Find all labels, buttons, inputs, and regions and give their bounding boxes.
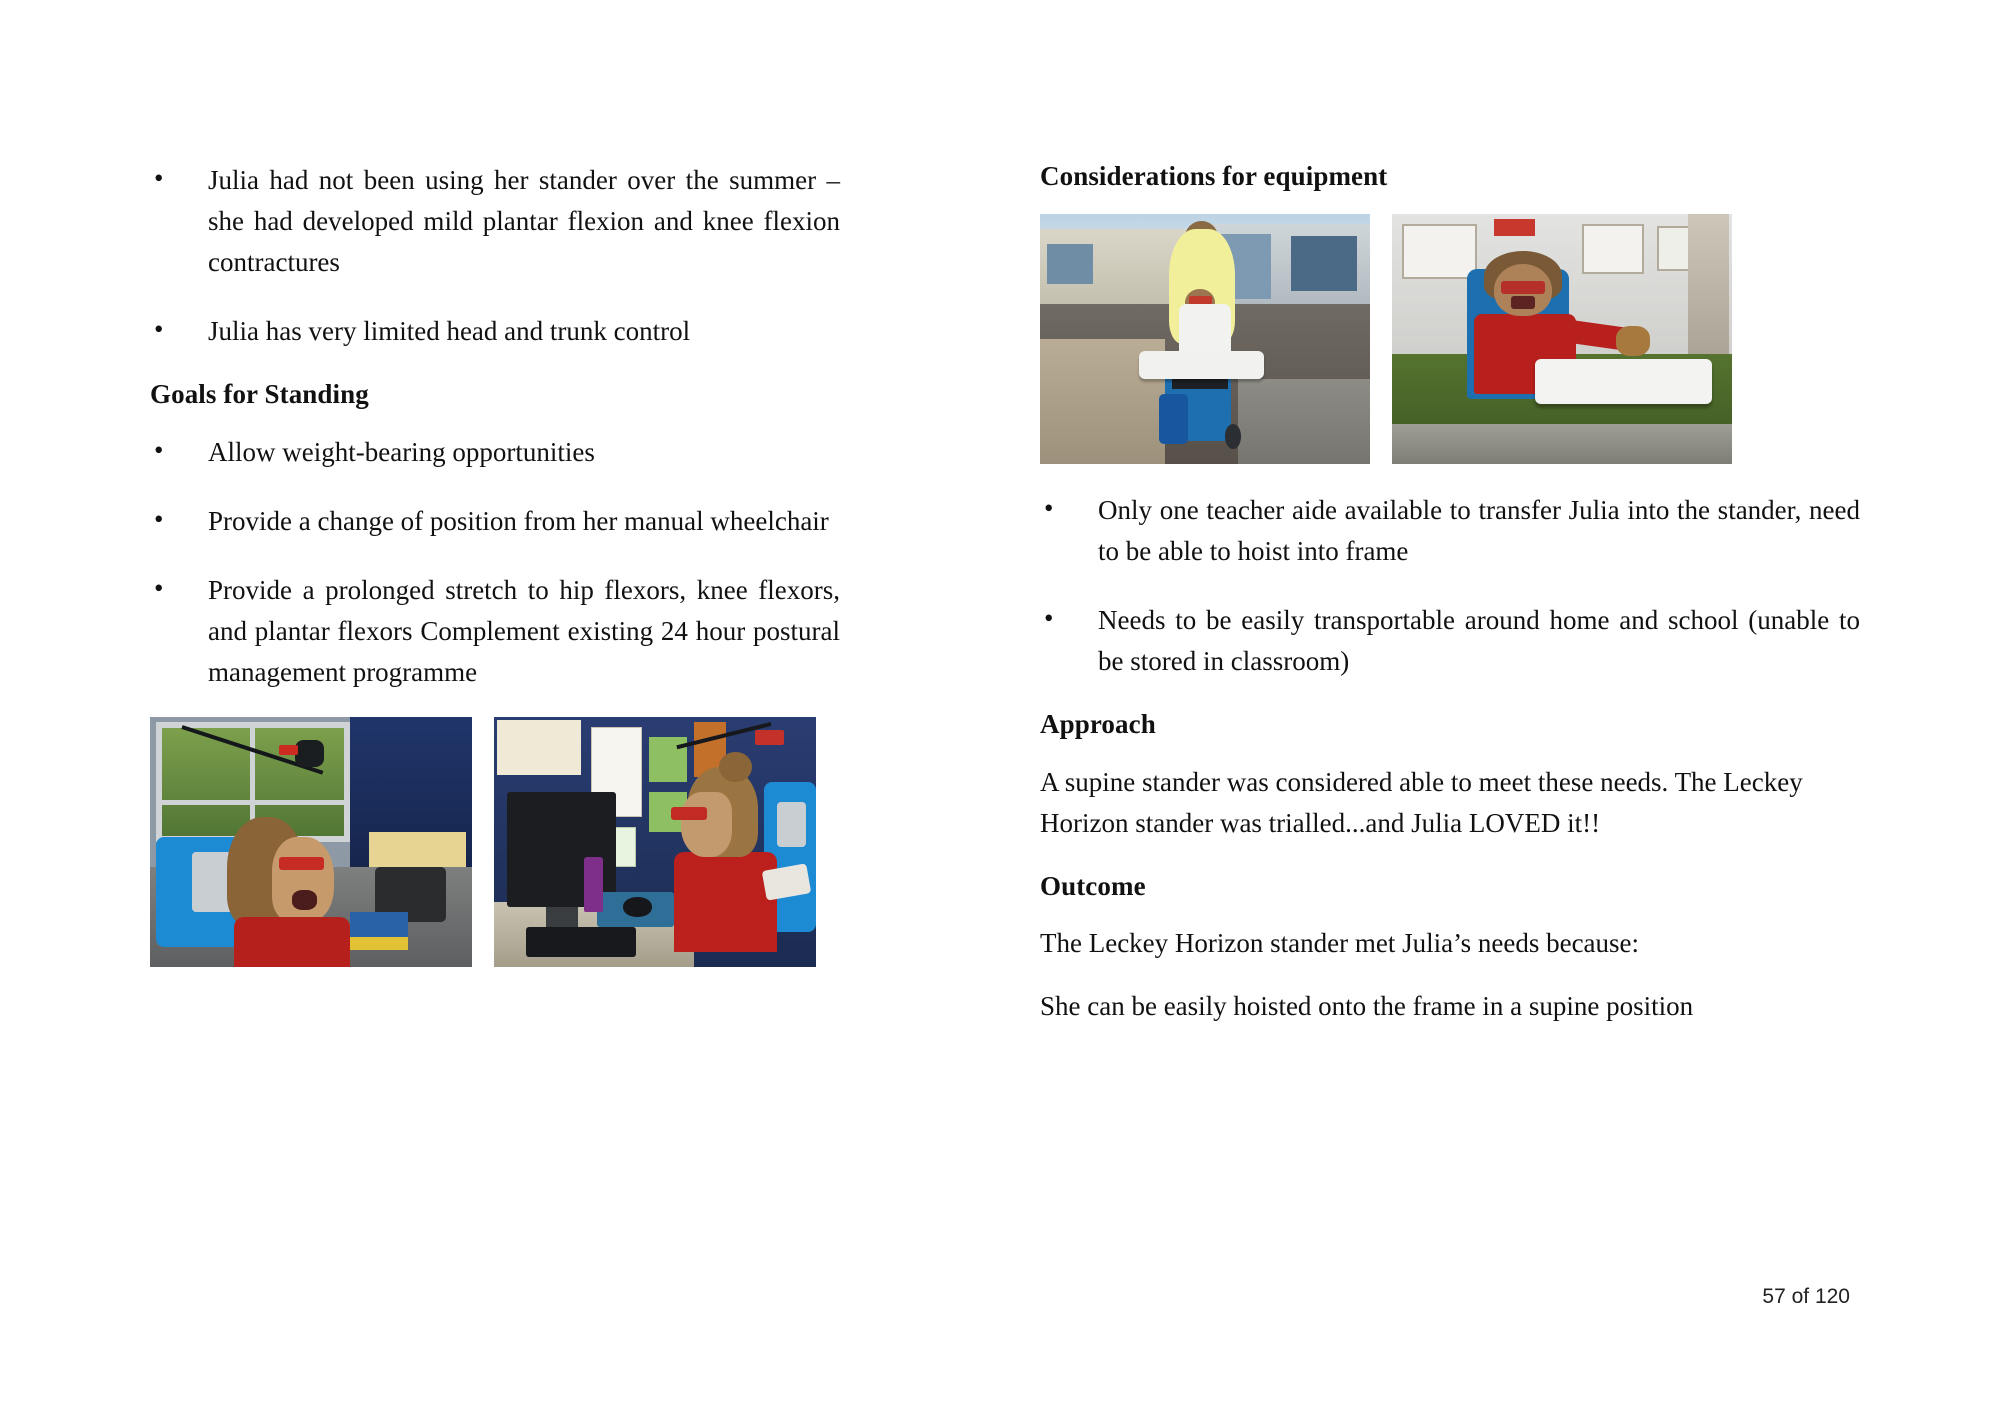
document-page: Julia had not been using her stander ove… [0,0,2000,1414]
approach-paragraph: A supine stander was considered able to … [1040,762,1860,844]
list-item: Provide a prolonged stretch to hip flexo… [150,570,840,693]
photo-teacher-pushing-child-in-stander-outdoors [1040,214,1370,464]
photo-child-smiling-in-stander-with-tray [1392,214,1732,464]
intro-bullet-list: Julia had not been using her stander ove… [150,160,840,352]
left-column: Julia had not been using her stander ove… [150,160,840,967]
list-item: Provide a change of position from her ma… [150,501,840,542]
page-number: 57 of 120 [1762,1285,1850,1309]
approach-heading: Approach [1040,708,1860,742]
photo-child-in-head-support-at-classroom-window [150,717,472,967]
photo-child-at-computer-workstation [494,717,816,967]
list-item: Needs to be easily transportable around … [1040,600,1860,682]
outcome-point-paragraph: She can be easily hoisted onto the frame… [1040,986,1860,1027]
right-column: Considerations for equipment [1040,160,1860,1050]
left-photo-row [150,717,840,967]
outcome-intro-paragraph: The Leckey Horizon stander met Julia’s n… [1040,923,1860,964]
right-photo-row [1040,214,1860,464]
considerations-for-equipment-heading: Considerations for equipment [1040,160,1860,194]
list-item: Julia has very limited head and trunk co… [150,311,840,352]
list-item: Julia had not been using her stander ove… [150,160,840,283]
goals-bullet-list: Allow weight-bearing opportunities Provi… [150,432,840,693]
goals-for-standing-heading: Goals for Standing [150,378,840,412]
list-item: Allow weight-bearing opportunities [150,432,840,473]
considerations-bullet-list: Only one teacher aide available to trans… [1040,490,1860,682]
list-item: Only one teacher aide available to trans… [1040,490,1860,572]
outcome-heading: Outcome [1040,870,1860,904]
